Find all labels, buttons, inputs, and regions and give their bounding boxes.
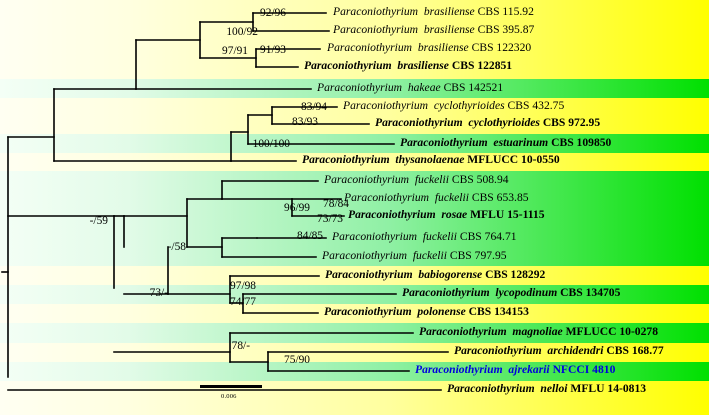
taxon-species: lycopodinum	[495, 286, 557, 299]
taxon-strain: CBS 122851	[452, 59, 512, 72]
taxon-strain: CBS 122320	[472, 41, 532, 54]
taxon-genus: Paraconiothyrium	[447, 382, 535, 395]
support-value-s10: 73/73	[303, 214, 343, 225]
taxon-genus: Paraconiothyrium	[325, 268, 413, 281]
taxon-label-t9: Paraconiothyrium thysanolaenae MFLUCC 10…	[302, 154, 560, 165]
taxon-genus: Paraconiothyrium	[415, 363, 503, 376]
taxon-strain: CBS 128292	[485, 268, 545, 281]
taxon-label-t21: Paraconiothyrium nelloi MFLU 14-0813	[447, 383, 646, 394]
support-value-s8: 96/99	[270, 203, 310, 214]
support-value-s13: -/58	[146, 242, 186, 253]
taxon-genus: Paraconiothyrium	[333, 5, 418, 18]
taxon-species: fuckelii	[415, 173, 449, 186]
taxon-strain: CBS 797.95	[450, 249, 507, 262]
taxon-species: magnoliae	[512, 325, 562, 338]
phylogenetic-tree-figure: Paraconiothyrium brasiliense CBS 115.92P…	[0, 0, 709, 415]
taxon-genus: Paraconiothyrium	[317, 81, 402, 94]
support-value-s14: 73/-	[128, 288, 168, 299]
taxon-label-t13: Paraconiothyrium fuckelii CBS 764.71	[332, 231, 517, 242]
taxon-genus: Paraconiothyrium	[419, 325, 507, 338]
taxon-label-t18: Paraconiothyrium magnoliae MFLUCC 10-027…	[419, 326, 658, 337]
support-value-s12: -/59	[68, 216, 108, 227]
taxon-strain: CBS 764.71	[460, 230, 517, 243]
support-value-s3: 91/93	[246, 45, 286, 56]
taxon-genus: Paraconiothyrium	[324, 173, 409, 186]
support-value-s17: 78/-	[210, 341, 250, 352]
taxon-genus: Paraconiothyrium	[332, 230, 417, 243]
taxon-label-t4: Paraconiothyrium brasiliense CBS 122851	[304, 60, 512, 71]
taxon-strain: CBS 653.85	[472, 191, 529, 204]
support-value-s11: 84/85	[283, 231, 323, 242]
taxon-strain: CBS 972.95	[543, 116, 600, 129]
taxon-species: hakeae	[408, 81, 441, 94]
taxon-label-t6: Paraconiothyrium cyclothyrioides CBS 432…	[343, 100, 564, 111]
taxon-species: brasiliense	[424, 5, 475, 18]
support-value-s2: 100/92	[218, 27, 258, 38]
taxon-genus: Paraconiothyrium	[375, 116, 463, 129]
taxon-strain: CBS 109850	[551, 136, 611, 149]
taxon-genus: Paraconiothyrium	[343, 99, 428, 112]
support-value-s15: 97/98	[216, 281, 256, 292]
taxon-genus: Paraconiothyrium	[322, 249, 407, 262]
taxon-species: cyclothyrioides	[434, 99, 505, 112]
taxon-strain: CBS 134705	[560, 286, 620, 299]
taxon-label-t7: Paraconiothyrium cyclothyrioides CBS 972…	[375, 117, 600, 128]
support-value-s6: 83/93	[278, 117, 318, 128]
taxon-genus: Paraconiothyrium	[348, 208, 436, 221]
taxon-species: polonense	[417, 305, 465, 318]
taxon-species: brasiliense	[424, 23, 475, 36]
taxon-strain: MFLU 14-0813	[570, 382, 646, 395]
taxon-label-t17: Paraconiothyrium polonense CBS 134153	[324, 306, 529, 317]
support-value-s16: 74/77	[216, 297, 256, 308]
taxon-genus: Paraconiothyrium	[302, 153, 390, 166]
taxon-genus: Paraconiothyrium	[333, 23, 418, 36]
support-value-s1: 92/96	[246, 8, 286, 19]
support-value-s7: 100/100	[250, 139, 290, 150]
taxon-species: cyclothyrioides	[468, 116, 539, 129]
taxon-label-t16: Paraconiothyrium lycopodinum CBS 134705	[402, 287, 620, 298]
taxon-species: fuckelii	[413, 249, 447, 262]
taxon-strain: CBS 142521	[444, 81, 504, 94]
taxon-label-t8: Paraconiothyrium estuarinum CBS 109850	[400, 137, 611, 148]
support-value-s18: 75/90	[270, 355, 310, 366]
taxon-genus: Paraconiothyrium	[402, 286, 490, 299]
taxon-species: brasiliense	[418, 41, 469, 54]
taxon-strain: MFLU 15-1115	[470, 208, 544, 221]
taxon-species: estuarinum	[493, 136, 548, 149]
taxon-strain: MFLUCC 10-0550	[467, 153, 559, 166]
taxon-strain: CBS 168.77	[606, 344, 663, 357]
taxon-species: fuckelii	[423, 230, 457, 243]
taxon-label-t1: Paraconiothyrium brasiliense CBS 115.92	[333, 6, 534, 17]
support-value-s9: 78/84	[309, 199, 349, 210]
taxon-species: brasiliense	[397, 59, 449, 72]
taxon-strain: MFLUCC 10-0278	[566, 325, 658, 338]
taxon-label-t20: Paraconiothyrium ajrekarii NFCCI 4810	[415, 364, 615, 375]
taxon-genus: Paraconiothyrium	[327, 41, 412, 54]
taxon-strain: CBS 432.75	[508, 99, 565, 112]
taxon-species: nelloi	[540, 382, 567, 395]
taxon-label-t3: Paraconiothyrium brasiliense CBS 122320	[327, 42, 531, 53]
support-value-s5: 83/94	[287, 102, 327, 113]
support-value-s4: 97/91	[208, 46, 248, 57]
scale-bar-line	[200, 385, 262, 388]
taxon-species: archidendri	[547, 344, 603, 357]
taxon-species: thysanolaenae	[395, 153, 464, 166]
scale-bar-label: 0.006	[221, 393, 237, 400]
taxon-strain: CBS 395.87	[478, 23, 535, 36]
taxon-genus: Paraconiothyrium	[324, 305, 412, 318]
taxon-genus: Paraconiothyrium	[454, 344, 542, 357]
taxon-species: fuckelii	[435, 191, 469, 204]
taxon-label-t5: Paraconiothyrium hakeae CBS 142521	[317, 82, 503, 93]
taxon-strain: CBS 134153	[469, 305, 529, 318]
taxon-label-t14: Paraconiothyrium fuckelii CBS 797.95	[322, 250, 507, 261]
taxon-strain: CBS 115.92	[478, 5, 534, 18]
taxon-label-t19: Paraconiothyrium archidendri CBS 168.77	[454, 345, 664, 356]
taxon-label-t15: Paraconiothyrium babiogorense CBS 128292	[325, 269, 545, 280]
taxon-label-t11: Paraconiothyrium fuckelii CBS 653.85	[344, 192, 529, 203]
taxon-species: ajrekarii	[508, 363, 549, 376]
taxon-species: rosae	[441, 208, 467, 221]
taxon-label-t2: Paraconiothyrium brasiliense CBS 395.87	[333, 24, 534, 35]
taxon-genus: Paraconiothyrium	[344, 191, 429, 204]
taxon-strain: NFCCI 4810	[553, 363, 616, 376]
taxon-genus: Paraconiothyrium	[400, 136, 488, 149]
taxon-label-t10: Paraconiothyrium fuckelii CBS 508.94	[324, 174, 509, 185]
taxon-label-t12: Paraconiothyrium rosae MFLU 15-1115	[348, 209, 545, 220]
taxon-species: babiogorense	[418, 268, 482, 281]
taxon-genus: Paraconiothyrium	[304, 59, 392, 72]
taxon-strain: CBS 508.94	[452, 173, 509, 186]
